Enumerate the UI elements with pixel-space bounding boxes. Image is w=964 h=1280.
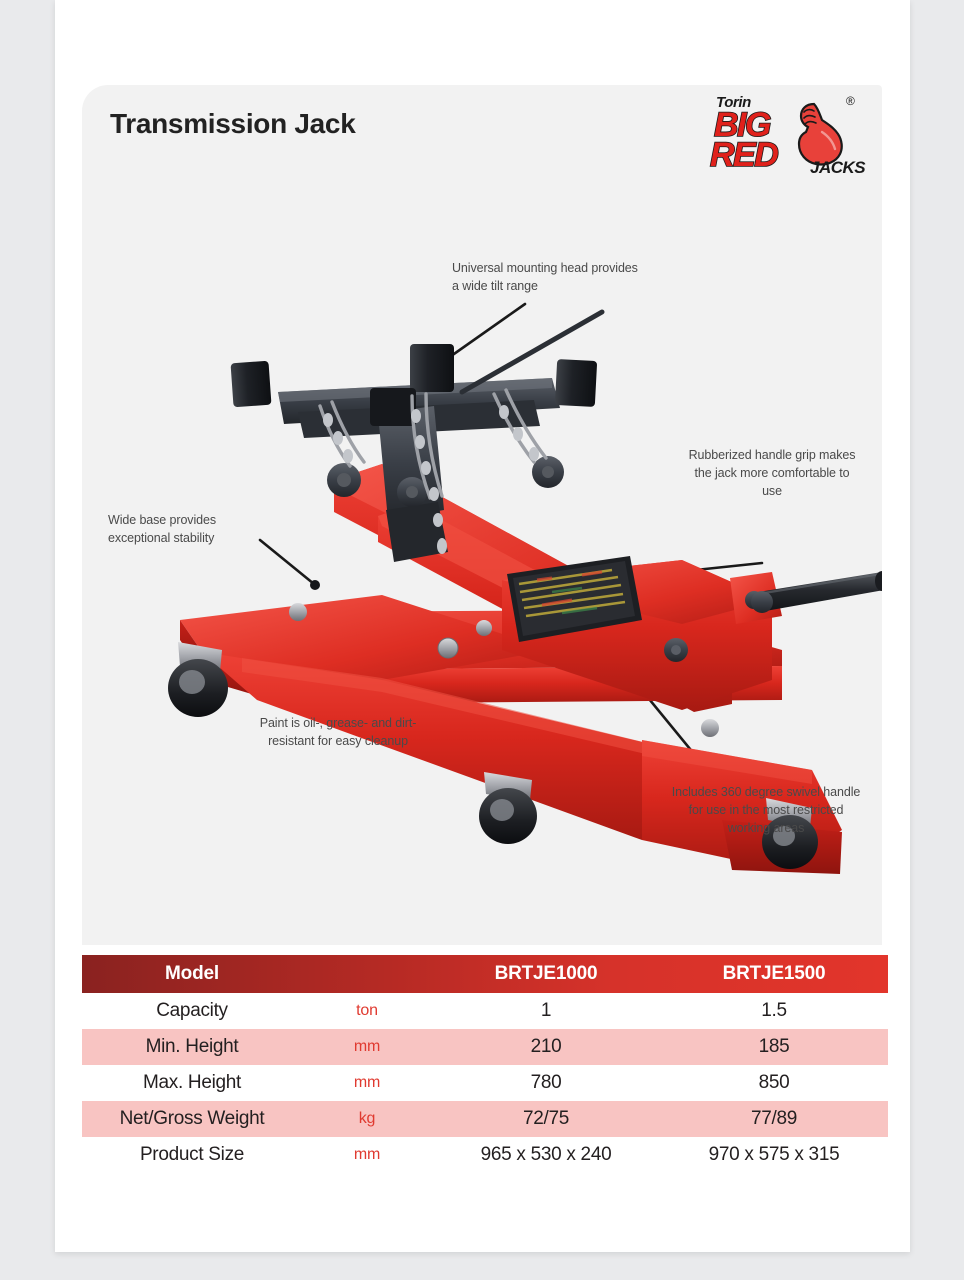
table-row: Product Size mm 965 x 530 x 240 970 x 57…: [82, 1137, 888, 1173]
brand-logo: Torin ® BIG RED JACKS: [700, 92, 870, 187]
row-value-model-2: 970 x 575 x 315: [660, 1137, 888, 1173]
callout-swivel-handle: Includes 360 degree swivel handle for us…: [668, 784, 864, 837]
table-row: Max. Height mm 780 850: [82, 1065, 888, 1101]
row-unit: mm: [302, 1065, 432, 1101]
row-label: Min. Height: [82, 1029, 302, 1065]
row-value-model-1: 965 x 530 x 240: [432, 1137, 660, 1173]
callout-mounting-head: Universal mounting head provides a wide …: [452, 260, 648, 296]
row-value-model-1: 72/75: [432, 1101, 660, 1137]
row-value-model-1: 780: [432, 1065, 660, 1101]
table-header: Model BRTJE1000 BRTJE1500: [82, 955, 888, 993]
row-label: Capacity: [82, 993, 302, 1029]
header-model-label: Model: [82, 955, 302, 993]
row-unit: mm: [302, 1029, 432, 1065]
row-value-model-2: 850: [660, 1065, 888, 1101]
universal-mounting-head: [231, 312, 602, 562]
row-unit: mm: [302, 1137, 432, 1173]
row-unit: ton: [302, 993, 432, 1029]
callout-wide-base: Wide base provides exceptional stability: [108, 512, 272, 548]
table-header-row: Model BRTJE1000 BRTJE1500: [82, 955, 888, 993]
table-body: Capacity ton 1 1.5 Min. Height mm 210 18…: [82, 993, 888, 1173]
row-value-model-2: 77/89: [660, 1101, 888, 1137]
row-value-model-1: 210: [432, 1029, 660, 1065]
row-unit: kg: [302, 1101, 432, 1137]
header-model-1: BRTJE1000: [432, 955, 660, 993]
header-model-2: BRTJE1500: [660, 955, 888, 993]
header-unit-label: [302, 955, 432, 993]
row-label: Max. Height: [82, 1065, 302, 1101]
row-value-model-1: 1: [432, 993, 660, 1029]
specification-table: Model BRTJE1000 BRTJE1500 Capacity ton 1…: [82, 955, 888, 1173]
logo-red-text: RED: [710, 136, 777, 175]
table-row: Net/Gross Weight kg 72/75 77/89: [82, 1101, 888, 1137]
product-spec-sheet: Transmission Jack Torin ® BIG RED JACKS: [0, 0, 964, 1280]
logo-jacks-text: JACKS: [810, 158, 865, 178]
row-label: Net/Gross Weight: [82, 1101, 302, 1137]
row-label: Product Size: [82, 1137, 302, 1173]
table-row: Capacity ton 1 1.5: [82, 993, 888, 1029]
callout-paint: Paint is oil-, grease- and dirt-resistan…: [248, 715, 428, 751]
table-row: Min. Height mm 210 185: [82, 1029, 888, 1065]
row-value-model-2: 185: [660, 1029, 888, 1065]
callout-handle-grip: Rubberized handle grip makes the jack mo…: [688, 447, 856, 500]
page-title: Transmission Jack: [110, 108, 355, 140]
row-value-model-2: 1.5: [660, 993, 888, 1029]
